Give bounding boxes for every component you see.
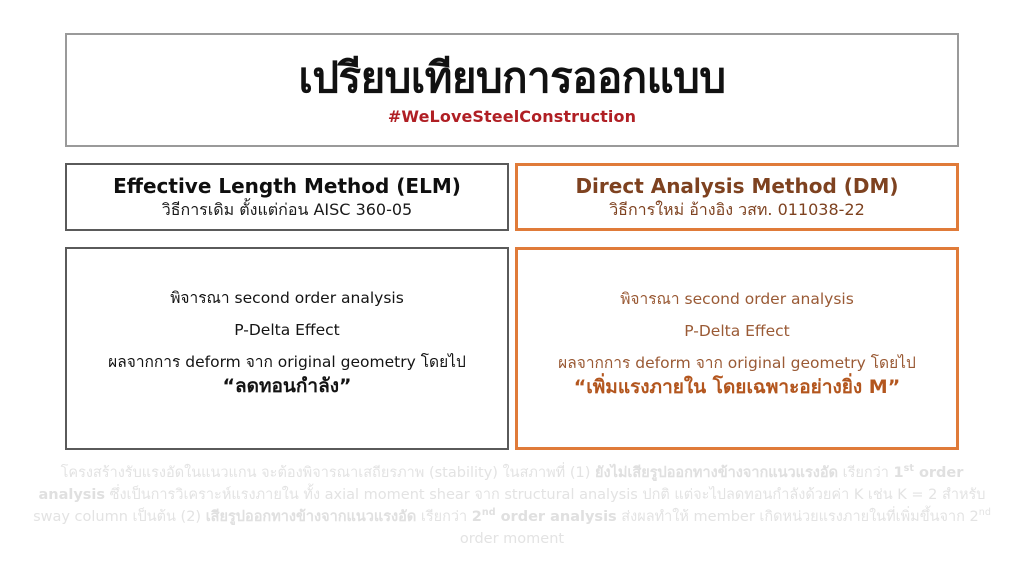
footer-segment: st <box>904 465 914 481</box>
column-body-elm: พิจารณา second order analysis P-Delta Ef… <box>65 247 509 450</box>
hashtag-label: #WeLoveSteelConstruction <box>388 107 636 126</box>
footer-segment: เรียกว่า <box>416 509 472 525</box>
title-banner: เปรียบเทียบการออกแบบ #WeLoveSteelConstru… <box>65 33 959 147</box>
column-body-elm-line-2: P-Delta Effect <box>234 319 340 341</box>
column-body-dm-quote: “เพิ่มแรงภายใน โดยเฉพาะอย่างยิ่ง M” <box>574 375 900 400</box>
column-header-elm: Effective Length Method (ELM) วิธีการเดิ… <box>65 163 509 231</box>
footer-segment: nd <box>482 509 496 525</box>
column-body-dm-line-2: P-Delta Effect <box>684 320 790 342</box>
column-header-dm-subtitle: วิธีการใหม่ อ้างอิง วสท. 011038-22 <box>609 200 865 220</box>
slide-root: เปรียบเทียบการออกแบบ #WeLoveSteelConstru… <box>0 0 1024 576</box>
column-body-elm-line-1: พิจารณา second order analysis <box>170 287 404 309</box>
footer-segment: ส่งผลทำให้ member เกิดหน่วยแรงภายในที่เพ… <box>617 509 979 525</box>
column-body-elm-quote: “ลดทอนกำลัง” <box>223 374 352 399</box>
column-header-elm-title: Effective Length Method (ELM) <box>113 174 461 198</box>
footer-segment: nd <box>979 509 991 525</box>
column-body-dm-line-1: พิจารณา second order analysis <box>620 288 854 310</box>
footer-segment: 2 <box>472 509 482 525</box>
column-body-dm-line-3: ผลจากการ deform จาก original geometry โด… <box>558 352 916 374</box>
footer-segment: โครงสร้างรับแรงอัดในแนวแกน จะต้องพิจารณา… <box>61 465 595 481</box>
footer-segment: order analysis <box>496 509 617 525</box>
column-header-elm-subtitle: วิธีการเดิม ตั้งแต่ก่อน AISC 360-05 <box>162 200 412 220</box>
column-body-dm: พิจารณา second order analysis P-Delta Ef… <box>515 247 959 450</box>
footer-segment: order moment <box>460 531 564 547</box>
footer-segment: ยังไม่เสียรูปออกทางข้างจากแนวแรงอัด <box>595 465 838 481</box>
footer-paragraph: โครงสร้างรับแรงอัดในแนวแกน จะต้องพิจารณา… <box>30 462 994 550</box>
column-header-dm-title: Direct Analysis Method (DM) <box>575 174 898 198</box>
page-title: เปรียบเทียบการออกแบบ <box>299 54 726 101</box>
footer-segment: เสียรูปออกทางข้างจากแนวแรงอัด <box>206 509 417 525</box>
column-body-elm-line-3: ผลจากการ deform จาก original geometry โด… <box>108 351 466 373</box>
column-header-dm: Direct Analysis Method (DM) วิธีการใหม่ … <box>515 163 959 231</box>
footer-segment: เรียกว่า <box>838 465 894 481</box>
footer-segment: 1 <box>894 465 904 481</box>
